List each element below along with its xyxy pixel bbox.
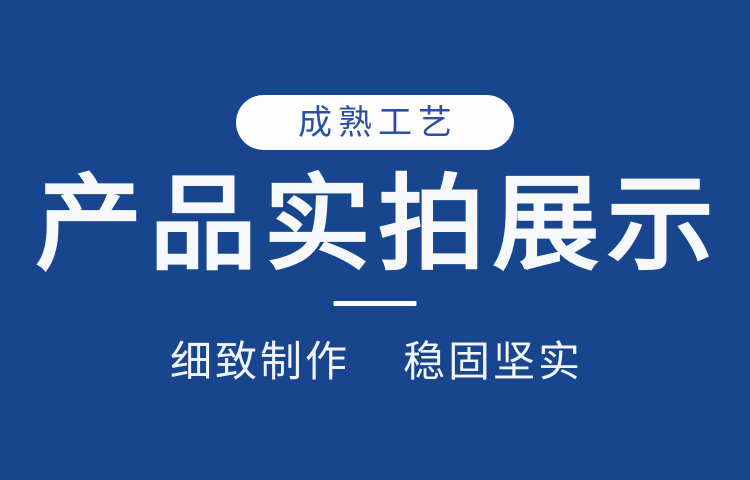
subtitle-phrase-first: 细致制作: [167, 341, 350, 383]
product-showcase-banner: 成熟工艺 产品实拍展示 细致制作 稳固坚实: [0, 0, 750, 480]
badge-pill: 成熟工艺: [236, 95, 514, 150]
page-title: 产品实拍展示: [28, 172, 721, 276]
subtitle-phrase-second: 稳固坚实: [400, 341, 583, 383]
subtitle-block: 细致制作 稳固坚实: [0, 336, 750, 388]
headline-block: 产品实拍展示: [0, 166, 750, 282]
badge-label: 成熟工艺: [292, 106, 458, 140]
title-divider: [334, 301, 417, 306]
